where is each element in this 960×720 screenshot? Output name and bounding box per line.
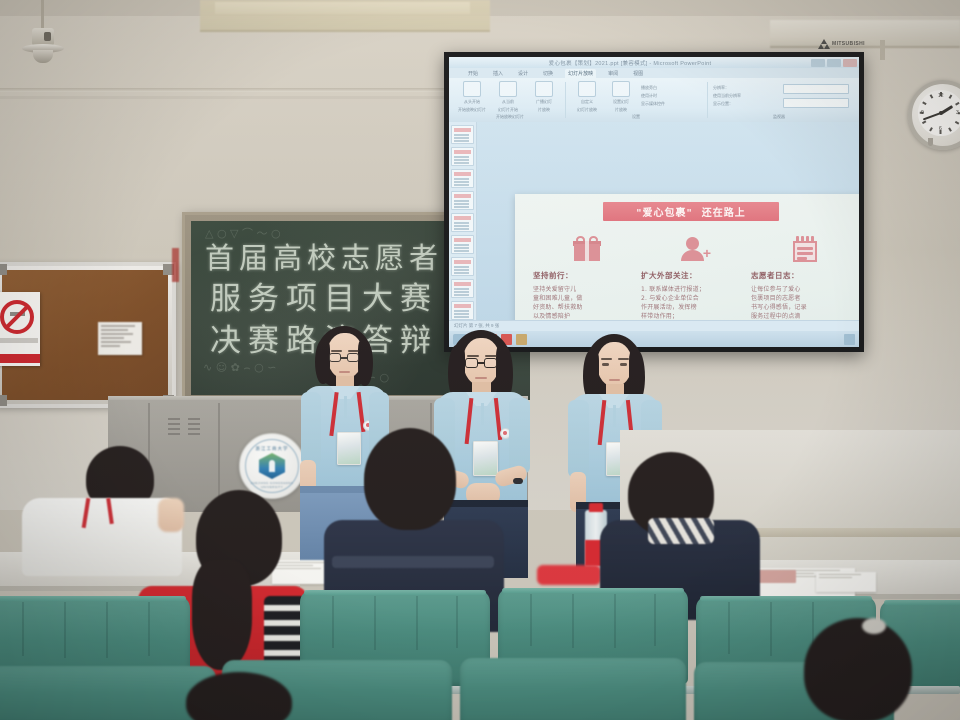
fan-rod bbox=[41, 0, 44, 30]
slide-col2-line-1: 1. 联系媒体进行报道； bbox=[641, 285, 749, 294]
tab-review[interactable]: 审阅 bbox=[605, 69, 621, 78]
tab-design[interactable]: 设计 bbox=[515, 69, 531, 78]
ribbon-label-broadcast: 广播幻灯 bbox=[527, 99, 561, 105]
slide-col1-line-3: 好资助、帮扶救助 bbox=[533, 303, 641, 312]
slide-thumbnail[interactable] bbox=[451, 235, 474, 254]
collar-line bbox=[332, 556, 494, 568]
ribbon-button-custom-show[interactable]: 自定义 幻灯片放映 bbox=[571, 81, 603, 113]
ceiling-light-fixture bbox=[200, 0, 490, 32]
folder-icon[interactable] bbox=[516, 334, 527, 345]
ribbon-check-timings[interactable]: 使用计时 bbox=[641, 93, 703, 99]
powerpoint-window-title: 爱心包裹【策划】2021.ppt [兼容模式] - Microsoft Powe… bbox=[549, 59, 712, 67]
university-emblem: 浙江工商大学 ZHEJIANG GONGSHANG UNIVERSITY bbox=[239, 433, 305, 499]
person-plus-icon: + bbox=[641, 228, 749, 270]
slide-thumbnail[interactable] bbox=[451, 279, 474, 298]
presenter-center-badge bbox=[473, 441, 498, 476]
slide-title-rest: 还在路上 bbox=[702, 204, 746, 219]
slide-col2-line-2: 2. 与爱心企业单位合 bbox=[641, 294, 749, 303]
close-button[interactable] bbox=[843, 59, 857, 67]
tab-slideshow[interactable]: 幻灯片放映 bbox=[565, 69, 596, 78]
slide-thumbnail[interactable] bbox=[451, 213, 474, 232]
patterned-collar bbox=[648, 518, 714, 544]
slide-col1-heading: 坚持前行： bbox=[533, 270, 641, 281]
seat[interactable] bbox=[0, 666, 216, 720]
clock-numeral-6: 6 bbox=[939, 126, 942, 132]
bottle-cap bbox=[589, 503, 603, 512]
slide-col2-line-3: 作开展活动，发挥榜 bbox=[641, 303, 749, 312]
ribbon-group-name-setup: 设置 bbox=[571, 114, 701, 120]
slide-thumbnail[interactable] bbox=[451, 257, 474, 276]
slide-thumbnail[interactable] bbox=[451, 191, 474, 210]
attendee-navy-head bbox=[364, 428, 456, 530]
emblem-chinese-name: 浙江工商大学 bbox=[240, 446, 304, 452]
light-glow bbox=[215, 2, 470, 14]
classroom-scene: MITSUBISHI 12 3 6 9 bbox=[0, 0, 960, 720]
slide-position-status: 幻灯片 第 7 张, 共 9 张 bbox=[454, 323, 499, 329]
mitsubishi-brand-label: MITSUBISHI bbox=[832, 41, 865, 47]
resolution-dropdown[interactable] bbox=[783, 84, 849, 94]
tab-home[interactable]: 开始 bbox=[465, 69, 481, 78]
presenter-left-badge bbox=[337, 432, 361, 465]
slide-col2-heading: 扩大外部关注： bbox=[641, 270, 749, 281]
ribbon-button-from-current[interactable]: 从当前 幻灯片开始 bbox=[491, 81, 525, 113]
slide-title-banner: "爱心包裹" 还在路上 bbox=[603, 202, 779, 221]
tab-insert[interactable]: 插入 bbox=[490, 69, 506, 78]
slide-col1-line-1: 坚持关爱留守儿 bbox=[533, 285, 641, 294]
ribbon-value-resolution[interactable]: 使用当前分辨率 bbox=[713, 93, 779, 99]
chalkboard-red-marker bbox=[172, 248, 179, 282]
ribbon-tab-bar[interactable]: 开始 插入 设计 切换 幻灯片放映 审阅 视图 bbox=[449, 68, 859, 78]
ribbon-label-resolution: 分辨率： bbox=[713, 85, 779, 91]
ribbon-label-display-location: 显示位置： bbox=[713, 101, 779, 107]
mitsubishi-logo: MITSUBISHI bbox=[818, 38, 878, 50]
slide-col1-line-2: 童和困难儿童，做 bbox=[533, 294, 641, 303]
ribbon-button-from-beginning[interactable]: 从头开始 开始放映幻灯片 bbox=[455, 81, 489, 113]
board-posted-notice bbox=[98, 322, 142, 355]
minimize-button[interactable] bbox=[811, 59, 825, 67]
ribbon-check-narration[interactable]: 播放旁白 bbox=[641, 85, 703, 91]
slide-thumbnail[interactable] bbox=[451, 301, 474, 320]
slide-thumbnail-panel[interactable] bbox=[449, 122, 477, 320]
seat[interactable] bbox=[460, 658, 686, 720]
volunteer-ponytail bbox=[192, 560, 252, 670]
windows-taskbar[interactable] bbox=[449, 331, 859, 347]
clock-numeral-3: 3 bbox=[956, 110, 959, 116]
wall-seam bbox=[0, 88, 480, 92]
slide-thumbnail[interactable] bbox=[451, 147, 474, 166]
powerpoint-status-bar: 幻灯片 第 7 张, 共 9 张 bbox=[449, 320, 859, 331]
emblem-figure-icon bbox=[269, 460, 275, 472]
sign-caption-band bbox=[0, 354, 40, 363]
clock-mount-nub bbox=[928, 138, 933, 146]
slide-column-1: 坚持前行： 坚持关爱留守儿 童和困难儿童，做 好资助、帮扶救助 以及情感陪护 bbox=[533, 228, 641, 321]
ribbon-label-setup-show: 设置幻灯 bbox=[605, 99, 637, 105]
document-papers bbox=[816, 572, 876, 592]
slide-thumbnail[interactable] bbox=[451, 125, 474, 144]
red-cloth bbox=[537, 565, 601, 585]
ribbon-check-media[interactable]: 显示媒体控件 bbox=[641, 101, 703, 107]
ribbon-group-name-start-show: 开始放映幻灯片 bbox=[455, 114, 565, 120]
ribbon-button-setup-show[interactable]: 设置幻灯 片放映 bbox=[605, 81, 637, 113]
emblem-english-name: ZHEJIANG GONGSHANG UNIVERSITY bbox=[240, 481, 304, 489]
ribbon-label-from-current: 从当前 bbox=[491, 99, 525, 105]
slide-title-quote: "爱心包裹" bbox=[636, 204, 692, 219]
projection-screen[interactable]: 爱心包裹【策划】2021.ppt [兼容模式] - Microsoft Powe… bbox=[449, 57, 859, 347]
colored-insert bbox=[758, 570, 796, 583]
slide-col3-heading: 志愿者日志： bbox=[751, 270, 859, 281]
maximize-button[interactable] bbox=[827, 59, 841, 67]
powerpoint-title-bar: 爱心包裹【策划】2021.ppt [兼容模式] - Microsoft Powe… bbox=[449, 57, 859, 68]
hair-clip bbox=[862, 618, 886, 634]
no-smoking-sign bbox=[0, 292, 40, 366]
slide-col3-line-1: 让每位参与了爱心 bbox=[751, 285, 859, 294]
slide-thumbnail[interactable] bbox=[451, 169, 474, 188]
tab-view[interactable]: 视图 bbox=[630, 69, 646, 78]
ribbon-button-broadcast[interactable]: 广播幻灯 片放映 bbox=[527, 81, 561, 113]
attendee-front-row-right bbox=[804, 618, 912, 720]
wristwatch bbox=[513, 478, 523, 484]
clock-center-pin bbox=[939, 111, 943, 115]
wall-seam-secondary bbox=[0, 96, 480, 99]
projector-arm bbox=[880, 40, 885, 60]
notepad-icon bbox=[751, 228, 859, 270]
ribbon-label-custom-show: 自定义 bbox=[571, 99, 603, 105]
slide-editing-stage: "爱心包裹" 还在路上 坚持前行： 坚持关爱留守儿 童和困难儿童，做 好资助、帮… bbox=[477, 122, 859, 320]
slide-col3-line-2: 包裹项目的志愿者 bbox=[751, 294, 859, 303]
display-location-dropdown[interactable] bbox=[783, 98, 849, 108]
ribbon[interactable]: 从头开始 开始放映幻灯片 从当前 幻灯片开始 广播幻灯 片放映 自定义 幻灯片放… bbox=[449, 78, 859, 123]
judge-raised-hand bbox=[158, 498, 184, 532]
clock-face: 12 3 6 9 bbox=[918, 90, 960, 136]
tray-icon[interactable] bbox=[844, 334, 855, 345]
ribbon-label-from-beginning: 从头开始 bbox=[455, 99, 489, 105]
clock-numeral-12: 12 bbox=[938, 93, 944, 99]
ribbon-group-name-monitors: 监视器 bbox=[709, 114, 849, 120]
clock-numeral-9: 9 bbox=[921, 110, 924, 116]
slide-column-3: 志愿者日志： 让每位参与了爱心 包裹项目的志愿者 书写心得感悟，记录 服务过程中… bbox=[751, 228, 859, 330]
chalkboard-line-1: 首届高校志愿者 bbox=[191, 235, 457, 277]
gift-icon bbox=[533, 228, 641, 270]
slide-col3-line-3: 书写心得感悟，记录 bbox=[751, 303, 859, 312]
chalkboard-line-2: 服务项目大赛 bbox=[191, 273, 457, 318]
sign-top-block bbox=[0, 338, 38, 343]
tab-transitions[interactable]: 切换 bbox=[540, 69, 556, 78]
mitsubishi-mark-icon bbox=[818, 39, 829, 49]
